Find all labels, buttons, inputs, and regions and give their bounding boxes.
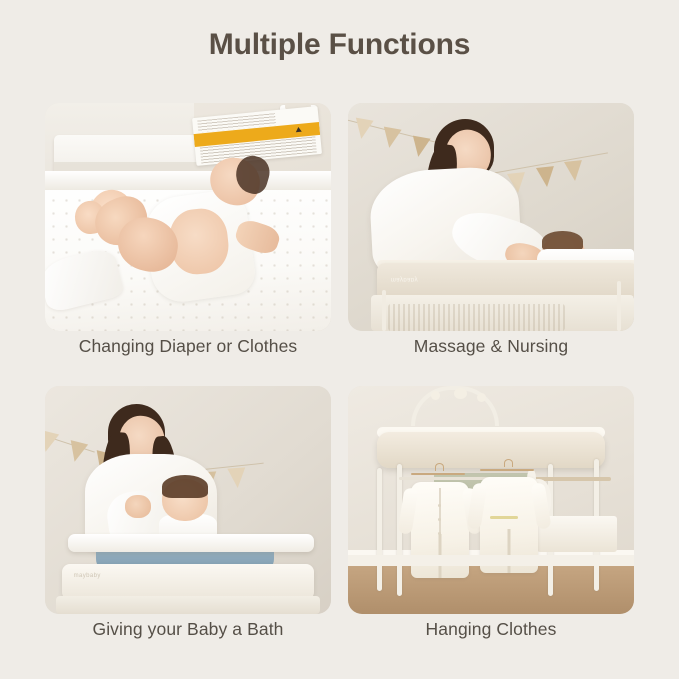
feature-cell-hanging-clothes: Hanging Clothes bbox=[348, 386, 634, 654]
table-leg bbox=[382, 290, 386, 331]
romper-snap bbox=[438, 518, 441, 521]
pennant bbox=[352, 118, 373, 141]
caption-baby-bath: Giving your Baby a Bath bbox=[45, 619, 331, 640]
caption-massage-nursing: Massage & Nursing bbox=[348, 336, 634, 357]
photo-baby-bath: maybaby bbox=[45, 386, 331, 614]
product-feature-graphic: Multiple Functions bbox=[0, 0, 679, 679]
caption-changing-diaper: Changing Diaper or Clothes bbox=[45, 336, 331, 357]
photo-hanging-clothes bbox=[348, 386, 634, 614]
romper-embroidery bbox=[490, 516, 518, 519]
baby-hair bbox=[162, 475, 208, 498]
feature-cell-changing-diaper: Changing Diaper or Clothes bbox=[45, 103, 331, 371]
front-panel bbox=[62, 564, 314, 600]
table-leg bbox=[617, 281, 621, 331]
caption-hanging-clothes: Hanging Clothes bbox=[348, 619, 634, 640]
mother-hand bbox=[125, 495, 151, 518]
hanging-toy-icon bbox=[477, 393, 486, 402]
pennant bbox=[381, 127, 402, 150]
table-tray bbox=[68, 534, 314, 552]
feature-grid: Changing Diaper or Clothes bbox=[45, 103, 634, 654]
page-title: Multiple Functions bbox=[0, 28, 679, 62]
photo-changing-diaper bbox=[45, 103, 331, 331]
photo-massage-nursing: maybaby bbox=[348, 103, 634, 331]
storage-basket bbox=[388, 304, 565, 331]
pennant bbox=[536, 166, 556, 188]
clothes-hanger bbox=[411, 468, 465, 479]
feature-cell-massage-nursing: maybaby Massage & Nursing bbox=[348, 103, 634, 371]
hanging-toy-icon bbox=[431, 391, 440, 400]
clothes-hanger bbox=[480, 464, 534, 475]
table-leg bbox=[377, 468, 382, 591]
floor-highlight bbox=[348, 555, 634, 566]
romper-leg-split bbox=[507, 529, 510, 573]
brand-logo: maybaby bbox=[74, 573, 101, 579]
table-base bbox=[56, 596, 319, 614]
brand-logo: maybaby bbox=[391, 276, 418, 282]
feature-cell-baby-bath: maybaby Giving your Baby a Bath bbox=[45, 386, 331, 654]
caregiver-hands bbox=[62, 190, 188, 299]
pennant bbox=[45, 430, 59, 454]
pennant bbox=[564, 160, 584, 182]
pennant bbox=[227, 467, 246, 488]
romper-snap bbox=[438, 504, 441, 507]
pennant bbox=[66, 440, 88, 464]
pennant bbox=[409, 136, 430, 159]
